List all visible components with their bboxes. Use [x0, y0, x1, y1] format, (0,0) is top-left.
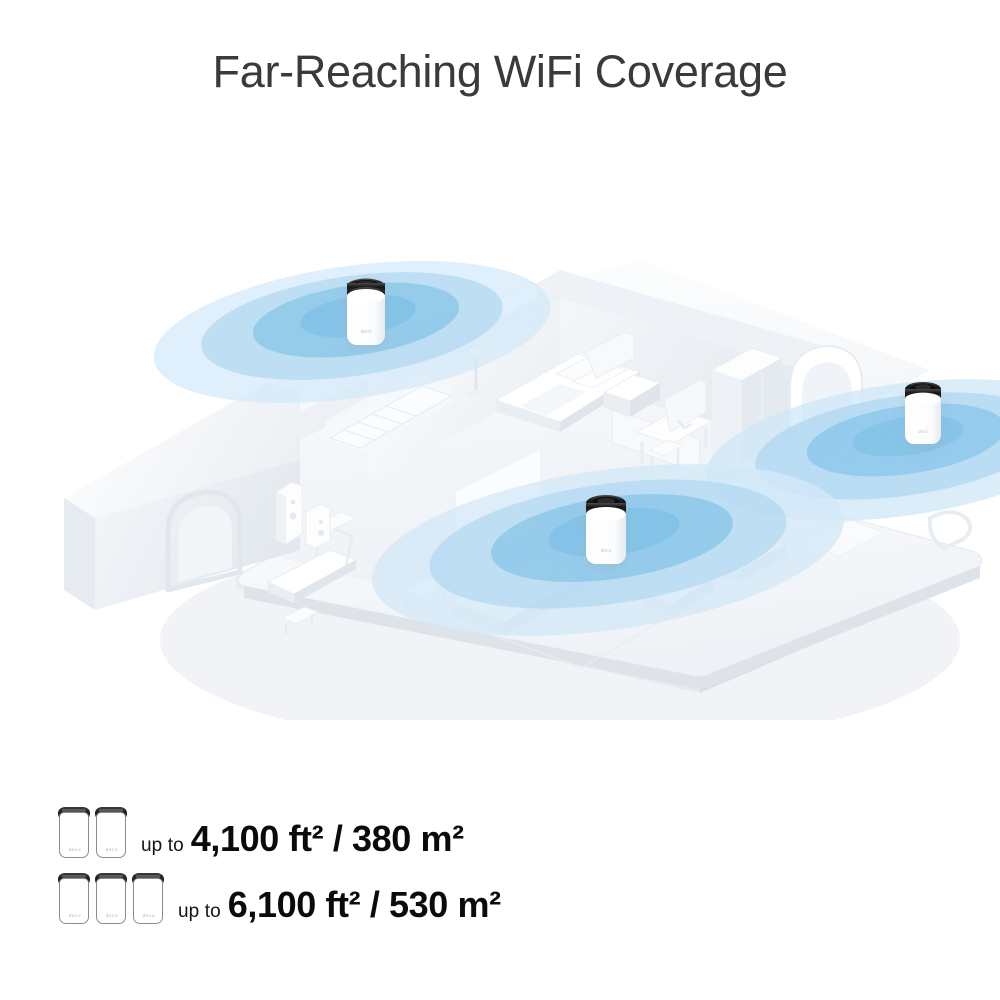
deco-unit-icon: deco — [95, 806, 129, 860]
house-illustration: deco deco deco — [0, 120, 1000, 720]
deco-unit-icon: deco — [58, 872, 92, 926]
legend-prefix: up to — [178, 901, 221, 923]
deco-unit-icon: deco — [58, 806, 92, 860]
legend-coverage-value: 6,100 ft² / 530 m² — [228, 884, 501, 926]
legend-prefix: up to — [141, 835, 184, 857]
page-root: Far-Reaching WiFi Coverage — [0, 0, 1000, 1000]
deco-unit-icon: deco — [132, 872, 166, 926]
legend-row-2-pack: deco deco up to 4,100 ft² / 380 m² — [58, 798, 758, 860]
svg-text:deco: deco — [601, 548, 612, 554]
deco-brand-label: deco — [106, 847, 118, 852]
deco-unit-right-wing: deco — [905, 382, 941, 444]
legend-text-2-pack: up to 4,100 ft² / 380 m² — [141, 818, 464, 860]
unit-group-3: deco deco deco — [58, 868, 166, 926]
deco-unit-living-room: deco — [586, 495, 626, 564]
deco-brand-label: deco — [69, 847, 81, 852]
deco-unit-icon: deco — [95, 872, 129, 926]
svg-text:deco: deco — [918, 429, 928, 434]
legend-row-3-pack: deco deco deco up to 6,100 ft² / 530 m² — [58, 864, 758, 926]
legend-text-3-pack: up to 6,100 ft² / 530 m² — [178, 884, 501, 926]
page-title: Far-Reaching WiFi Coverage — [0, 44, 1000, 100]
deco-brand-label: deco — [143, 913, 155, 918]
unit-group-2: deco deco — [58, 802, 129, 860]
deco-unit-upstairs: deco — [347, 279, 385, 346]
svg-text:deco: deco — [361, 329, 372, 335]
legend-coverage-value: 4,100 ft² / 380 m² — [191, 818, 464, 860]
deco-brand-label: deco — [106, 913, 118, 918]
coverage-legend: deco deco up to 4,100 ft² / 380 m² deco — [58, 798, 758, 926]
deco-brand-label: deco — [69, 913, 81, 918]
